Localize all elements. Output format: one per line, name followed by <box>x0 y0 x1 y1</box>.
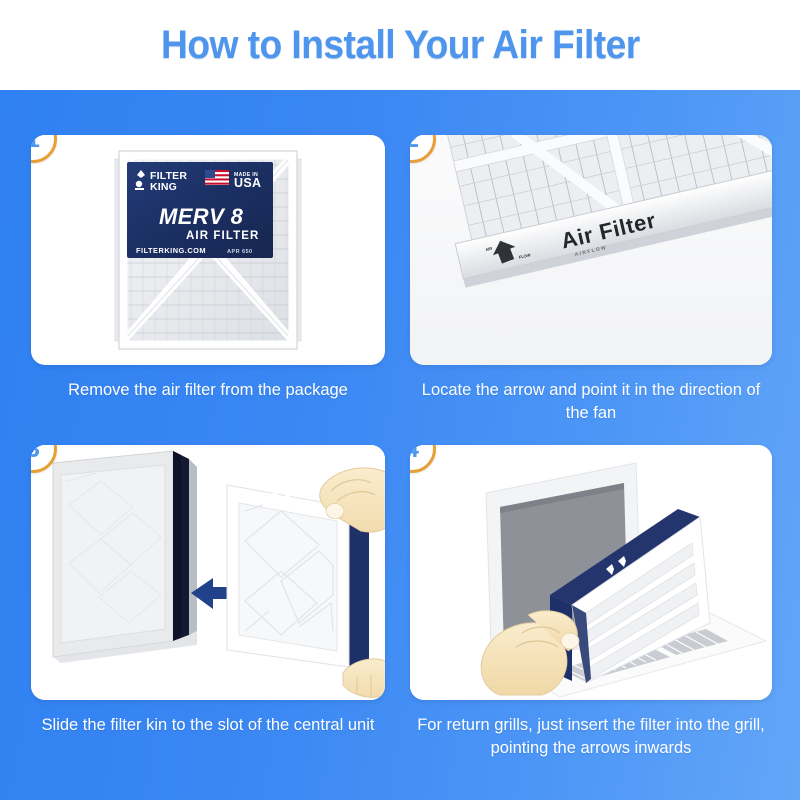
step-1-caption: Remove the air filter from the package <box>31 379 385 402</box>
svg-text:FILTERKING.COM: FILTERKING.COM <box>136 246 206 255</box>
step-2: AIR FLOW Air Filter AIRFLOW <box>410 135 772 455</box>
svg-text:AIR FILTER: AIR FILTER <box>186 230 259 242</box>
step-3: 3 Slide the filter kin to the slot of th… <box>31 445 385 790</box>
step-4: 4 For return grills, just insert the fil… <box>410 445 772 790</box>
step-4-caption: For return grills, just insert the filte… <box>410 714 772 760</box>
svg-text:KING: KING <box>150 181 177 193</box>
step-2-card: AIR FLOW Air Filter AIRFLOW <box>410 135 772 365</box>
step-4-card: 4 <box>410 445 772 700</box>
svg-text:APR 650: APR 650 <box>227 249 253 255</box>
svg-text:USA: USA <box>234 176 261 190</box>
step-1: FILTER KING <box>31 135 385 455</box>
step-1-card: FILTER KING <box>31 135 385 365</box>
svg-text:MERV 8: MERV 8 <box>159 204 244 229</box>
step-3-illustration <box>31 445 385 700</box>
steps-grid: FILTER KING <box>0 90 800 800</box>
step-2-caption: Locate the arrow and point it in the dir… <box>410 379 772 425</box>
infographic-poster: How to Install Your Air Filter <box>0 0 800 800</box>
header-band: How to Install Your Air Filter <box>0 0 800 90</box>
step-3-card: 3 <box>31 445 385 700</box>
step-4-illustration <box>410 445 772 700</box>
step-2-illustration: AIR FLOW Air Filter AIRFLOW <box>410 135 772 365</box>
step-3-caption: Slide the filter kin to the slot of the … <box>31 714 385 737</box>
page-title: How to Install Your Air Filter <box>161 23 640 68</box>
step-1-illustration: FILTER KING <box>31 135 385 365</box>
